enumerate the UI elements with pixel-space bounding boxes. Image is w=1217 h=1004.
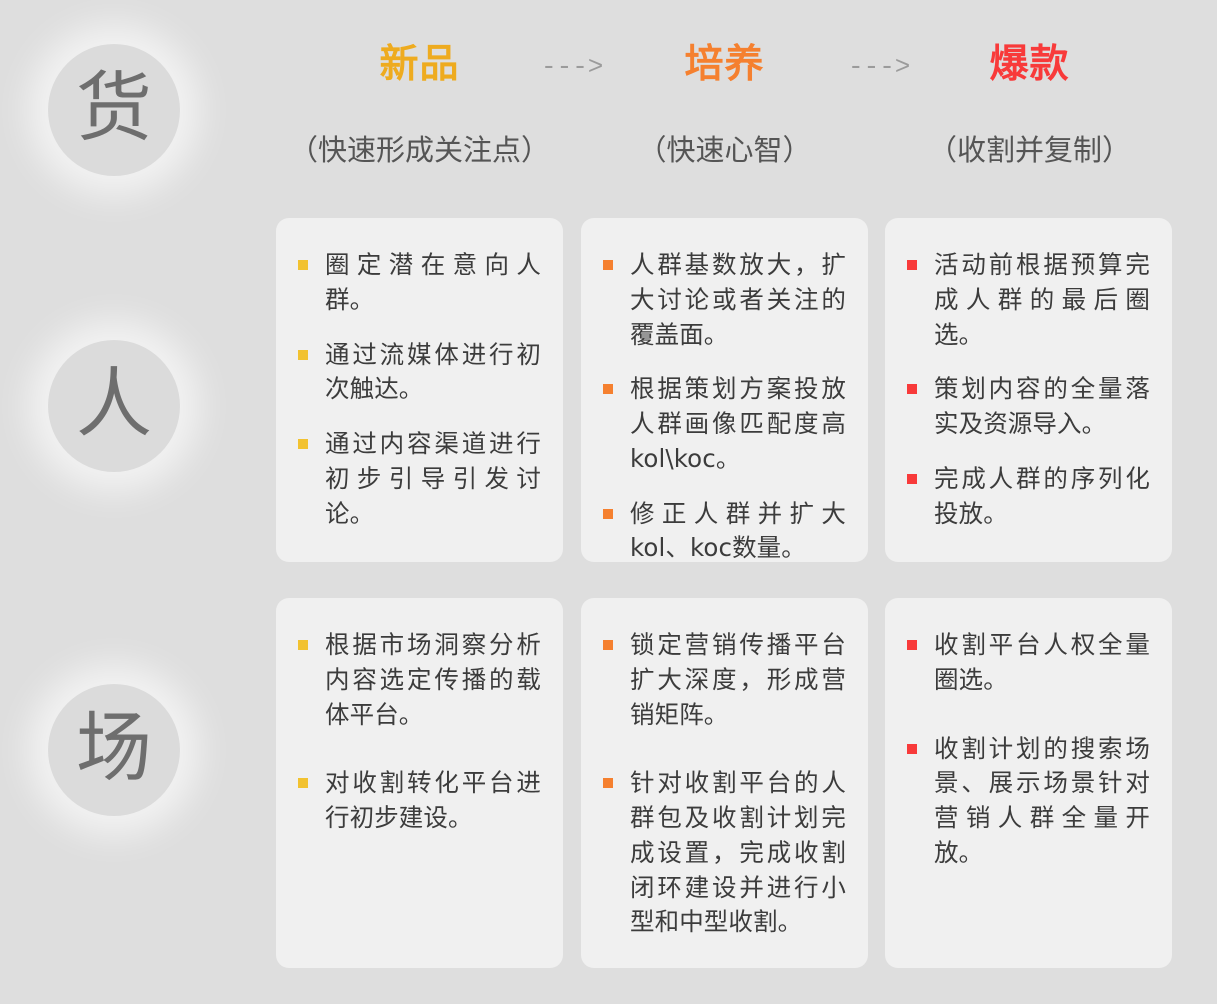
bullet-item: 修正人群并扩大kol、koc数量。 [603, 497, 846, 567]
card-bullet-list: 圈定潜在意向人群。通过流媒体进行初次触达。通过内容渠道进行初步引导引发讨论。 [276, 218, 563, 551]
rail-glyph-people: 人 [76, 366, 152, 442]
bullet-text: 圈定潜在意向人群。 [325, 248, 541, 318]
bullet-square-icon [907, 474, 917, 484]
bullet-square-icon [603, 509, 613, 519]
bullet-text: 人群基数放大，扩大讨论或者关注的覆盖面。 [630, 248, 846, 352]
bullet-square-icon [603, 640, 613, 650]
stage-subtitle-new-product: （快速形成关注点） [276, 84, 563, 165]
bullet-text: 对收割转化平台进行初步建设。 [325, 766, 541, 836]
bullet-text: 收割平台人权全量圈选。 [934, 628, 1150, 698]
bullet-item: 活动前根据预算完成人群的最后圈选。 [907, 248, 1150, 352]
bullet-item: 策划内容的全量落实及资源导入。 [907, 372, 1150, 442]
rail-circle-people[interactable]: 人 [48, 340, 180, 472]
stage-subtitle-cultivate: （快速心智） [581, 84, 868, 165]
stage-column-new-product: 新品 （快速形成关注点） [276, 0, 563, 165]
bullet-square-icon [603, 778, 613, 788]
bullet-text: 根据市场洞察分析内容选定传播的载体平台。 [325, 628, 541, 732]
bullet-square-icon [907, 640, 917, 650]
bullet-text: 完成人群的序列化投放。 [934, 462, 1150, 532]
bullet-item: 根据策划方案投放人群画像匹配度高kol\koc。 [603, 372, 846, 476]
matrix-card[interactable]: 圈定潜在意向人群。通过流媒体进行初次触达。通过内容渠道进行初步引导引发讨论。 [276, 218, 563, 562]
bullet-item: 完成人群的序列化投放。 [907, 462, 1150, 532]
rail-glyph-place: 场 [76, 710, 152, 786]
matrix-card[interactable]: 人群基数放大，扩大讨论或者关注的覆盖面。根据策划方案投放人群画像匹配度高kol\… [581, 218, 868, 562]
bullet-item: 对收割转化平台进行初步建设。 [298, 766, 541, 836]
rail-glyph-goods: 货 [76, 70, 152, 146]
rail-circle-goods[interactable]: 货 [48, 44, 180, 176]
matrix-card[interactable]: 收割平台人权全量圈选。收割计划的搜索场景、展示场景针对营销人群全量开放。 [885, 598, 1172, 968]
bullet-text: 收割计划的搜索场景、展示场景针对营销人群全量开放。 [934, 732, 1150, 871]
bullet-square-icon [907, 260, 917, 270]
bullet-item: 锁定营销传播平台扩大深度，形成营销矩阵。 [603, 628, 846, 732]
matrix-grid: 圈定潜在意向人群。通过流媒体进行初次触达。通过内容渠道进行初步引导引发讨论。人群… [276, 218, 1172, 968]
bullet-square-icon [298, 439, 308, 449]
card-bullet-list: 锁定营销传播平台扩大深度，形成营销矩阵。针对收割平台的人群包及收割计划完成设置，… [581, 598, 868, 994]
bullet-square-icon [603, 384, 613, 394]
stage-column-hot-item: 爆款 （收割并复制） [886, 0, 1173, 165]
bullet-text: 锁定营销传播平台扩大深度，形成营销矩阵。 [630, 628, 846, 732]
bullet-item: 根据市场洞察分析内容选定传播的载体平台。 [298, 628, 541, 732]
card-bullet-list: 根据市场洞察分析内容选定传播的载体平台。对收割转化平台进行初步建设。 [276, 598, 563, 890]
bullet-item: 收割计划的搜索场景、展示场景针对营销人群全量开放。 [907, 732, 1150, 871]
bullet-text: 活动前根据预算完成人群的最后圈选。 [934, 248, 1150, 352]
bullet-square-icon [907, 744, 917, 754]
card-bullet-list: 活动前根据预算完成人群的最后圈选。策划内容的全量落实及资源导入。完成人群的序列化… [885, 218, 1172, 551]
matrix-card[interactable]: 根据市场洞察分析内容选定传播的载体平台。对收割转化平台进行初步建设。 [276, 598, 563, 968]
bullet-square-icon [298, 260, 308, 270]
bullet-square-icon [298, 640, 308, 650]
card-bullet-list: 收割平台人权全量圈选。收割计划的搜索场景、展示场景针对营销人群全量开放。 [885, 598, 1172, 925]
bullet-square-icon [603, 260, 613, 270]
bullet-text: 通过内容渠道进行初步引导引发讨论。 [325, 427, 541, 531]
bullet-text: 修正人群并扩大kol、koc数量。 [630, 497, 846, 567]
bullet-item: 通过内容渠道进行初步引导引发讨论。 [298, 427, 541, 531]
stage-title-hot-item: 爆款 [886, 0, 1173, 84]
stage-column-cultivate: 培养 （快速心智） [581, 0, 868, 165]
card-bullet-list: 人群基数放大，扩大讨论或者关注的覆盖面。根据策划方案投放人群画像匹配度高kol\… [581, 218, 868, 586]
stage-title-cultivate: 培养 [581, 0, 868, 84]
bullet-text: 针对收割平台的人群包及收割计划完成设置，完成收割闭环建设并进行小型和中型收割。 [630, 766, 846, 940]
stage-header: 新品 （快速形成关注点） ---> 培养 （快速心智） ---> 爆款 （收割并… [258, 0, 1217, 210]
bullet-item: 通过流媒体进行初次触达。 [298, 338, 541, 408]
matrix-card[interactable]: 锁定营销传播平台扩大深度，形成营销矩阵。针对收割平台的人群包及收割计划完成设置，… [581, 598, 868, 968]
bullet-item: 圈定潜在意向人群。 [298, 248, 541, 318]
bullet-text: 通过流媒体进行初次触达。 [325, 338, 541, 408]
bullet-item: 针对收割平台的人群包及收割计划完成设置，完成收割闭环建设并进行小型和中型收割。 [603, 766, 846, 940]
stage-subtitle-hot-item: （收割并复制） [886, 84, 1173, 165]
bullet-item: 收割平台人权全量圈选。 [907, 628, 1150, 698]
matrix-card[interactable]: 活动前根据预算完成人群的最后圈选。策划内容的全量落实及资源导入。完成人群的序列化… [885, 218, 1172, 562]
bullet-square-icon [298, 350, 308, 360]
bullet-text: 根据策划方案投放人群画像匹配度高kol\koc。 [630, 372, 846, 476]
bullet-square-icon [907, 384, 917, 394]
rail-circle-place[interactable]: 场 [48, 684, 180, 816]
bullet-text: 策划内容的全量落实及资源导入。 [934, 372, 1150, 442]
category-rail: 货 人 场 [0, 0, 258, 1004]
bullet-item: 人群基数放大，扩大讨论或者关注的覆盖面。 [603, 248, 846, 352]
stage-title-new-product: 新品 [276, 0, 563, 84]
bullet-square-icon [298, 778, 308, 788]
